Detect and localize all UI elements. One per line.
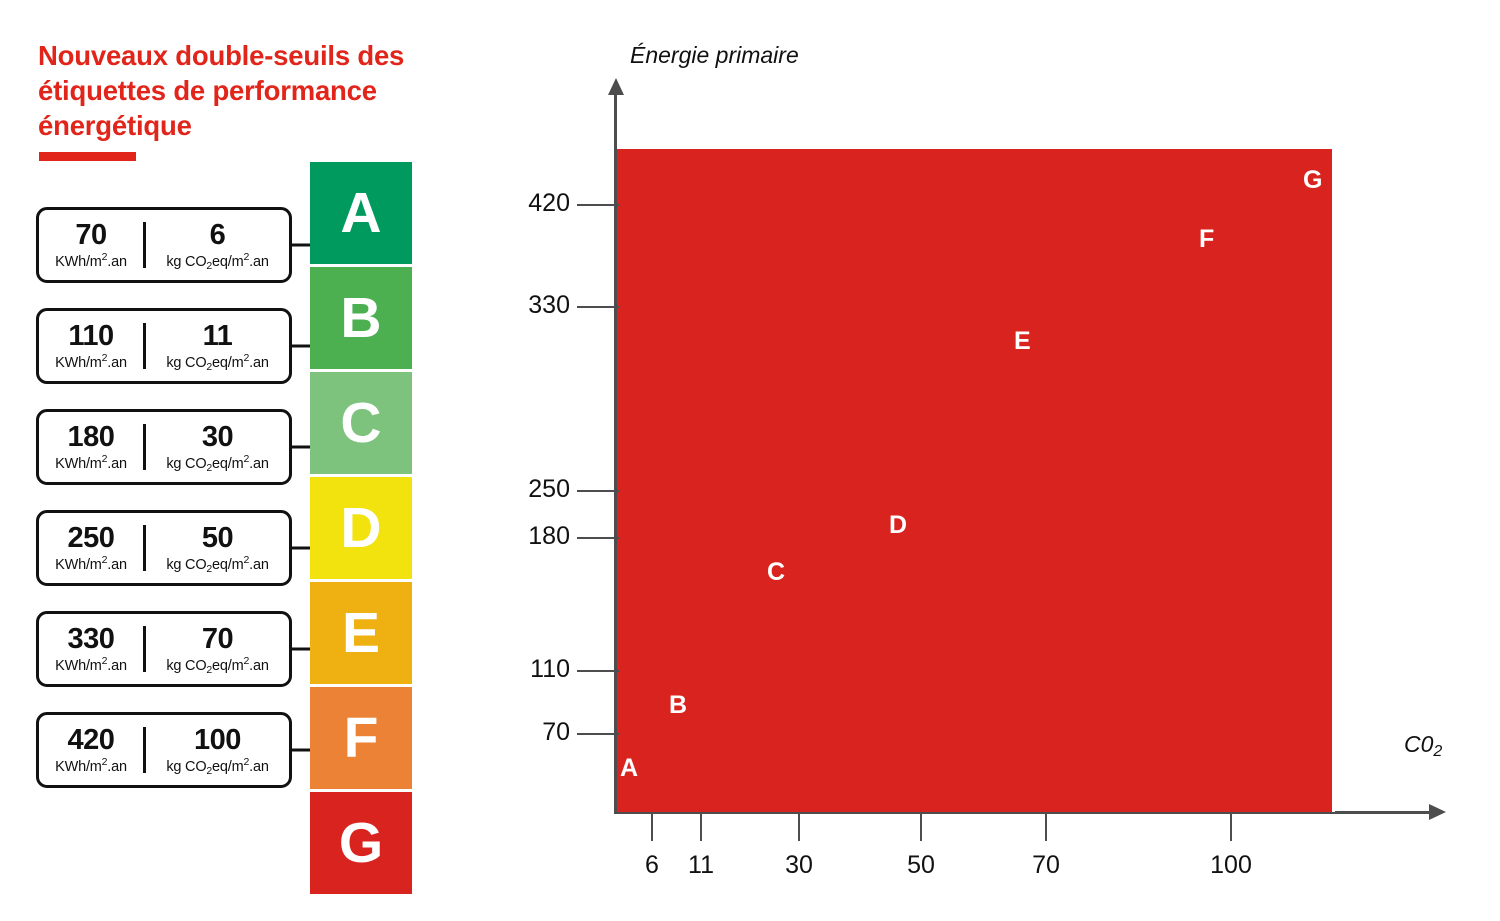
x-tick-line xyxy=(651,813,653,841)
y-tick-label: 180 xyxy=(470,522,570,551)
chart-zone-label-a: A xyxy=(620,756,638,781)
y-tick-line xyxy=(577,670,619,672)
x-tick-label: 50 xyxy=(871,851,971,880)
y-tick-label: 420 xyxy=(470,189,570,218)
y-tick-label: 70 xyxy=(470,718,570,747)
x-tick-line xyxy=(700,813,702,841)
y-axis-arrow-icon xyxy=(608,78,624,95)
x-tick-label: 70 xyxy=(996,851,1096,880)
y-tick-line xyxy=(577,306,619,308)
x-tick-line xyxy=(1045,813,1047,841)
x-tick-label: 11 xyxy=(651,851,751,880)
y-tick-label: 250 xyxy=(470,475,570,504)
y-tick-line xyxy=(577,490,619,492)
x-tick-label: 100 xyxy=(1181,851,1281,880)
y-tick-line xyxy=(577,537,619,539)
chart-zone-label-c: C xyxy=(767,560,785,585)
y-axis-label: Énergie primaire xyxy=(630,42,799,69)
y-tick-label: 330 xyxy=(470,291,570,320)
chart-zone-label-d: D xyxy=(889,513,907,538)
x-tick-line xyxy=(798,813,800,841)
x-axis-label: C02 xyxy=(1404,731,1442,758)
x-tick-label: 30 xyxy=(749,851,849,880)
x-axis-arrow-icon xyxy=(1429,804,1446,820)
x-tick-line xyxy=(920,813,922,841)
y-tick-line xyxy=(577,733,619,735)
chart-zone-g xyxy=(617,146,1335,812)
energy-class-chart: Énergie primaire C02 ABCDEFG 70110180250… xyxy=(0,0,1500,921)
chart-zone-label-f: F xyxy=(1199,227,1214,252)
y-tick-line xyxy=(577,204,619,206)
y-tick-label: 110 xyxy=(470,655,570,684)
chart-zone-label-g: G xyxy=(1303,168,1322,193)
x-tick-line xyxy=(1230,813,1232,841)
chart-zone-label-b: B xyxy=(669,693,687,718)
chart-zone-label-e: E xyxy=(1014,329,1031,354)
